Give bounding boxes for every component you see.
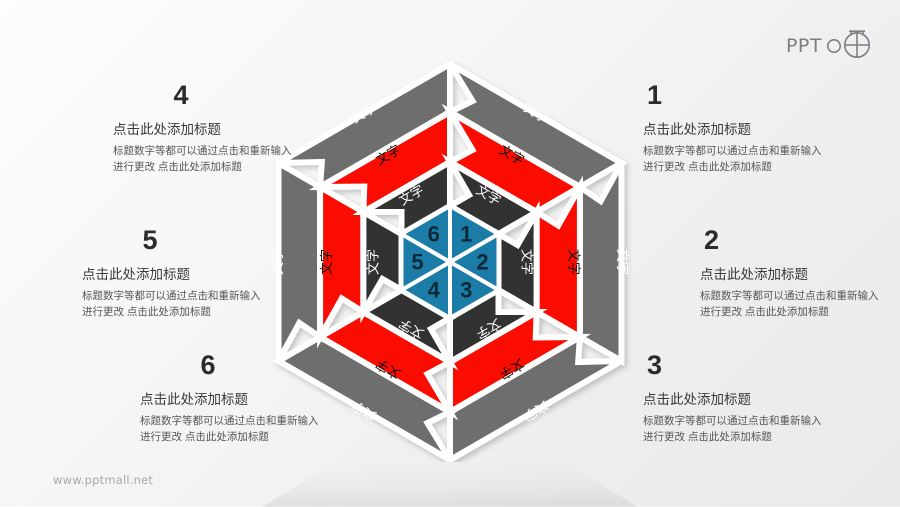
info-block-1[interactable]: 1 点击此处添加标题 标题数字等都可以通过点击和重新输入进行更改 点击此处添加标… xyxy=(643,82,823,176)
watermark: www.pptmall.net xyxy=(53,473,153,487)
center-hexagon-number: 3 xyxy=(460,278,472,303)
info-block-6-title: 点击此处添加标题 xyxy=(140,391,320,409)
inner-ring-segment-label: 文字 xyxy=(520,249,535,275)
center-hexagon-number: 4 xyxy=(428,278,441,303)
info-block-6-number: 6 xyxy=(178,352,238,379)
center-hexagon-number: 2 xyxy=(476,250,488,275)
info-block-5[interactable]: 5 点击此处添加标题 标题数字等都可以通过点击和重新输入进行更改 点击此处添加标… xyxy=(82,227,262,321)
slide-canvas: PPT 123456 文字文字文字文字文字文字文字文字文字文字文字文字文字文字文… xyxy=(0,0,900,506)
info-block-3-number: 3 xyxy=(647,352,823,379)
info-block-6[interactable]: 6 点击此处添加标题 标题数字等都可以通过点击和重新输入进行更改 点击此处添加标… xyxy=(140,352,320,446)
info-block-1-body: 标题数字等都可以通过点击和重新输入进行更改 点击此处添加标题 xyxy=(643,143,823,176)
outer-ring-segment-label: 文字 xyxy=(615,249,630,275)
middle-ring-segment-label: 文字 xyxy=(319,249,334,275)
logo-text: PPT xyxy=(786,35,822,57)
info-block-2-title: 点击此处添加标题 xyxy=(700,266,880,284)
info-block-5-number: 5 xyxy=(120,227,180,254)
info-block-2-body: 标题数字等都可以通过点击和重新输入进行更改 点击此处添加标题 xyxy=(700,288,880,321)
info-block-4-number: 4 xyxy=(151,82,211,109)
info-block-5-title: 点击此处添加标题 xyxy=(82,266,262,284)
info-block-6-body: 标题数字等都可以通过点击和重新输入进行更改 点击此处添加标题 xyxy=(140,413,320,446)
info-block-5-body: 标题数字等都可以通过点击和重新输入进行更改 点击此处添加标题 xyxy=(82,288,262,321)
info-block-2[interactable]: 2 点击此处添加标题 标题数字等都可以通过点击和重新输入进行更改 点击此处添加标… xyxy=(700,227,880,321)
info-block-3-body: 标题数字等都可以通过点击和重新输入进行更改 点击此处添加标题 xyxy=(643,413,823,446)
middle-ring-segment-label: 文字 xyxy=(566,249,581,275)
center-hexagon-number: 5 xyxy=(411,250,423,275)
info-block-4-title: 点击此处添加标题 xyxy=(113,121,293,139)
center-hexagon-number: 6 xyxy=(428,221,440,246)
diagram-reflection xyxy=(215,455,685,507)
target-circle-icon xyxy=(826,26,876,65)
info-block-4[interactable]: 4 点击此处添加标题 标题数字等都可以通过点击和重新输入进行更改 点击此处添加标… xyxy=(113,82,293,176)
brand-logo: PPT xyxy=(786,26,876,65)
info-block-3[interactable]: 3 点击此处添加标题 标题数字等都可以通过点击和重新输入进行更改 点击此处添加标… xyxy=(643,352,823,446)
outer-ring-segment-label: 文字 xyxy=(270,249,285,275)
info-block-1-number: 1 xyxy=(647,82,823,109)
info-block-4-body: 标题数字等都可以通过点击和重新输入进行更改 点击此处添加标题 xyxy=(113,143,293,176)
info-block-3-title: 点击此处添加标题 xyxy=(643,391,823,409)
center-hexagon-number: 1 xyxy=(460,221,472,246)
inner-ring-segment-label: 文字 xyxy=(365,249,380,275)
info-block-1-title: 点击此处添加标题 xyxy=(643,121,823,139)
info-block-2-number: 2 xyxy=(704,227,880,254)
